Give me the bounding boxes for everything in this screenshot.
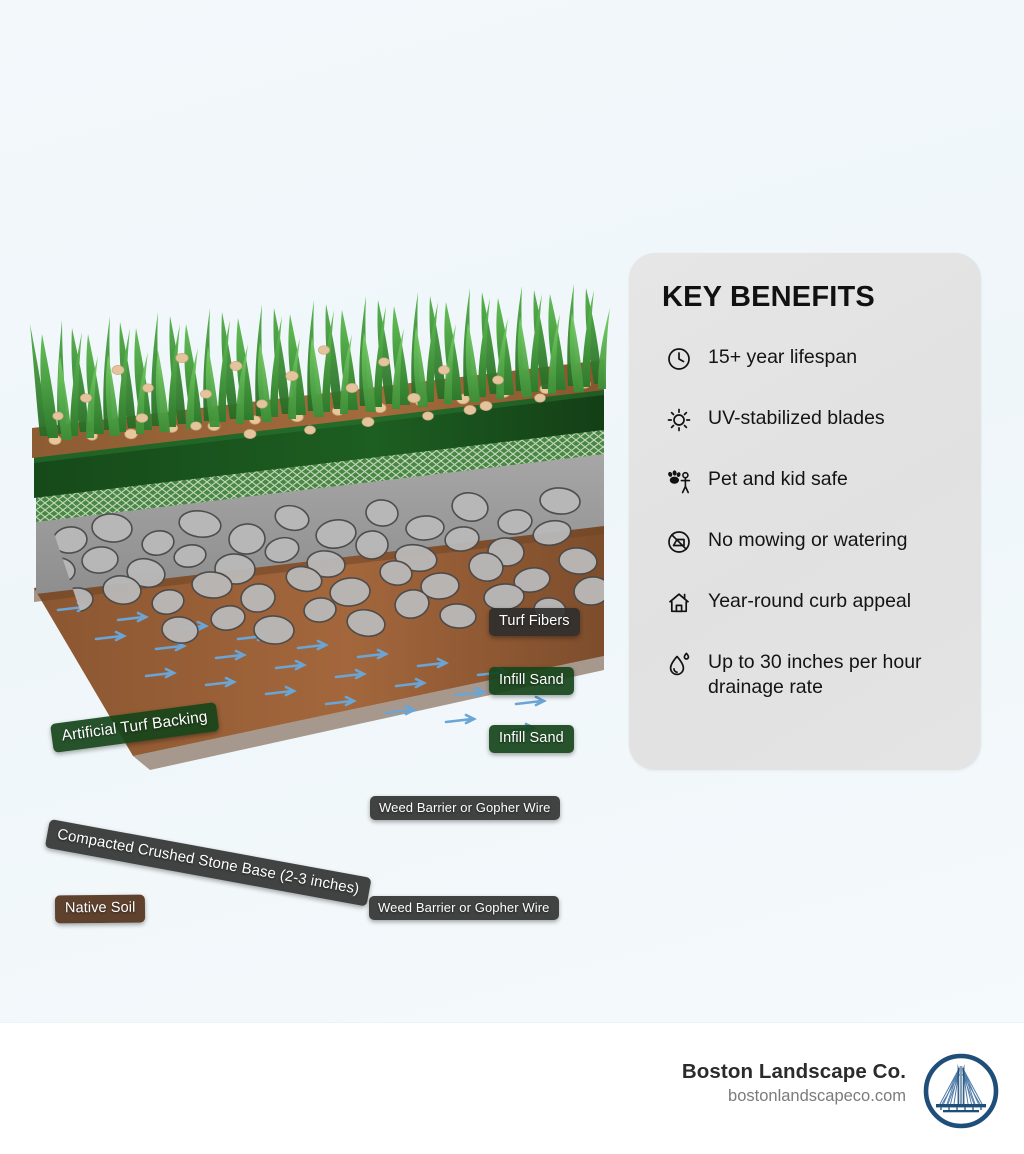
label-infill-sand-lower: Infill Sand — [489, 725, 574, 753]
benefit-label: No mowing or watering — [708, 526, 907, 553]
label-crushed-stone-base: Compacted Crushed Stone Base (2-3 inches… — [45, 819, 372, 906]
benefit-label: Up to 30 inches per hour drainage rate — [708, 648, 959, 700]
benefit-item-pet-kid-safe: Pet and kid safe — [662, 465, 959, 499]
clock-icon — [662, 344, 696, 374]
cross-section-illustration — [0, 258, 630, 798]
person-figure — [681, 472, 689, 492]
label-weed-barrier-lower: Weed Barrier or Gopher Wire — [369, 896, 559, 920]
bridge-logo-icon — [922, 1052, 1000, 1130]
page-stage: Turf Fibers Infill Sand Infill Sand Arti… — [0, 0, 1024, 1154]
benefit-item-curb-appeal: Year-round curb appeal — [662, 587, 959, 621]
benefit-item-lifespan: 15+ year lifespan — [662, 343, 959, 377]
turf-cross-section-diagram: Turf Fibers Infill Sand Infill Sand Arti… — [0, 258, 630, 798]
benefit-label: UV-stabilized blades — [708, 404, 885, 431]
key-benefits-title: KEY BENEFITS — [662, 281, 875, 314]
paw-print — [668, 470, 682, 484]
brand-name: Boston Landscape Co. — [682, 1060, 906, 1084]
label-native-soil: Native Soil — [55, 895, 146, 924]
water-drop-icon — [662, 649, 696, 679]
benefit-label: Year-round curb appeal — [708, 587, 911, 614]
benefit-label: Pet and kid safe — [708, 465, 848, 492]
label-weed-barrier-upper: Weed Barrier or Gopher Wire — [370, 796, 560, 820]
brand-block: Boston Landscape Co. bostonlandscapeco.c… — [682, 1060, 906, 1106]
benefit-item-drainage-rate: Up to 30 inches per hour drainage rate — [662, 648, 959, 700]
no-mowing-icon — [662, 527, 696, 557]
key-benefits-card: KEY BENEFITS 15+ year lifespan — [629, 253, 981, 770]
benefit-item-uv-stabilized: UV-stabilized blades — [662, 404, 959, 438]
pet-kid-icon — [662, 466, 696, 496]
key-benefits-list: 15+ year lifespan UV-stabilized blades — [662, 343, 959, 727]
label-turf-fibers: Turf Fibers — [489, 608, 580, 636]
house-icon — [662, 588, 696, 618]
sun-icon — [662, 405, 696, 435]
benefit-item-no-mowing: No mowing or watering — [662, 526, 959, 560]
label-infill-sand-upper: Infill Sand — [489, 667, 574, 695]
infographic-canvas: Turf Fibers Infill Sand Infill Sand Arti… — [0, 0, 1024, 1022]
benefit-label: 15+ year lifespan — [708, 343, 857, 370]
footer-divider — [0, 1022, 1024, 1023]
brand-url[interactable]: bostonlandscapeco.com — [682, 1087, 906, 1106]
